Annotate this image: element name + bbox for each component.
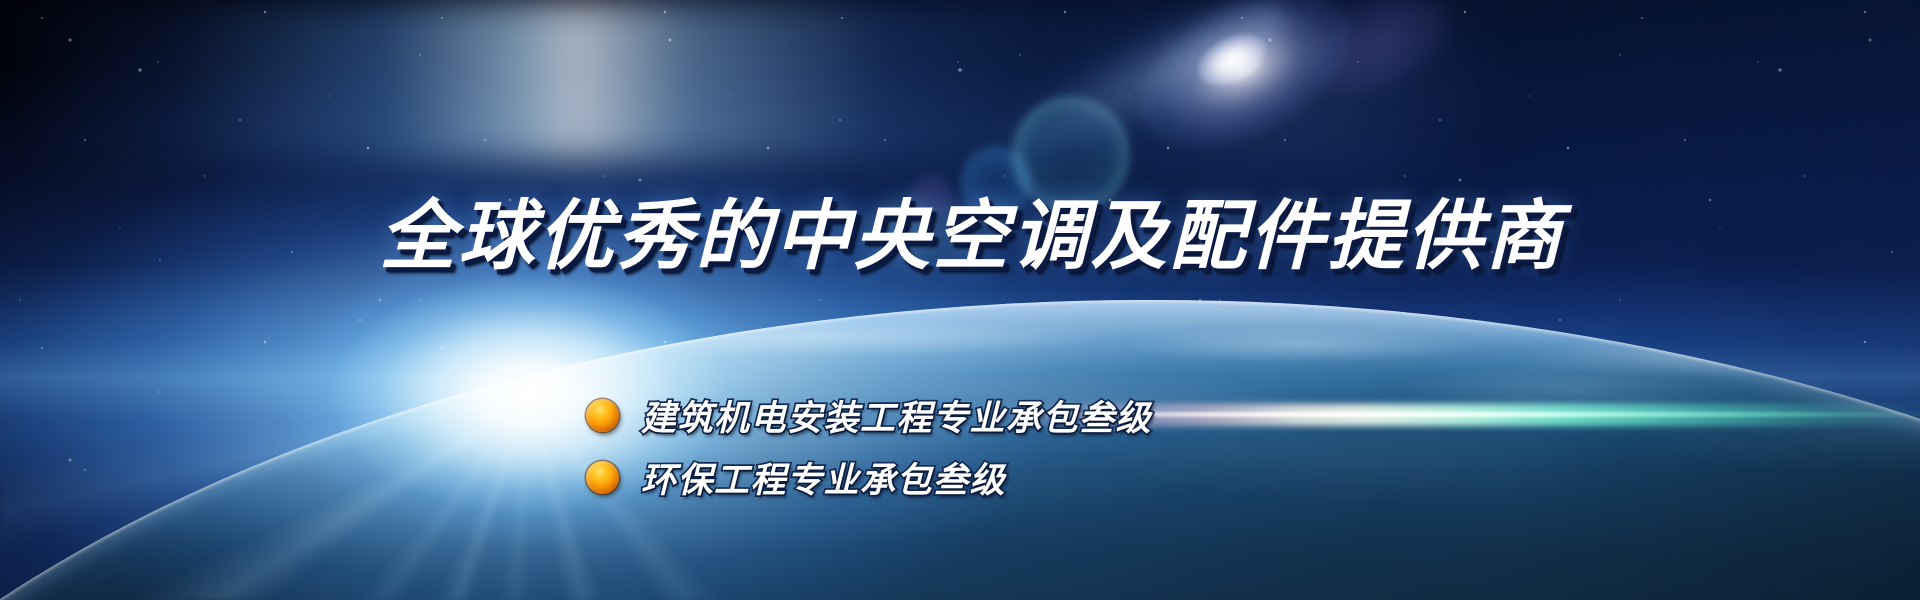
list-item-label: 环保工程专业承包叁级 (641, 452, 1006, 503)
banner-headline: 全球优秀的中央空调及配件提供商 (0, 198, 1920, 274)
hero-banner: 全球优秀的中央空调及配件提供商 建筑机电安装工程专业承包叁级 环保工程专业承包叁… (0, 0, 1920, 600)
bullet-dot-icon (586, 399, 619, 432)
bullet-dot-icon (586, 461, 619, 494)
list-item-label: 建筑机电安装工程专业承包叁级 (641, 390, 1152, 441)
banner-content: 全球优秀的中央空调及配件提供商 建筑机电安装工程专业承包叁级 环保工程专业承包叁… (0, 0, 1920, 600)
banner-qualification-list: 建筑机电安装工程专业承包叁级 环保工程专业承包叁级 (586, 384, 1152, 508)
list-item: 环保工程专业承包叁级 (586, 446, 1152, 508)
list-item: 建筑机电安装工程专业承包叁级 (586, 384, 1152, 446)
